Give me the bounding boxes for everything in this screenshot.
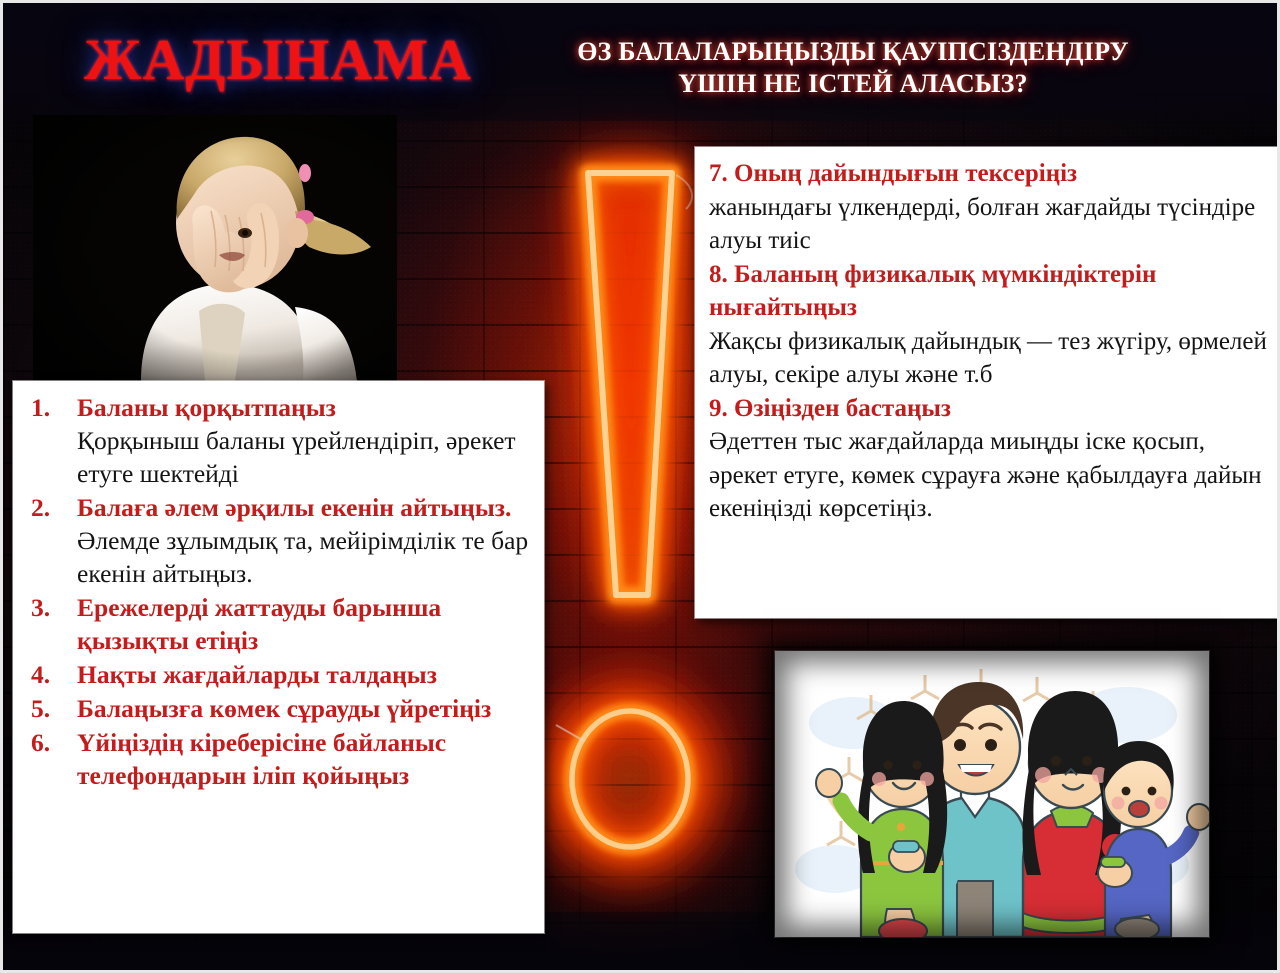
left-recommendations-panel: Баланы қорқытпаңыз Қорқыныш баланы үрейл… bbox=[13, 381, 544, 933]
list-item-heading: Балаға әлем әрқилы екенін айтыңыз. bbox=[77, 493, 511, 522]
right-item-body: Жақсы физикалық дайындық — тез жүгіру, ө… bbox=[709, 325, 1271, 392]
poster-canvas: ЖАДЫНАМА ӨЗ БАЛАЛАРЫҢЫЗДЫ ҚАУІПСІЗДЕНДІР… bbox=[0, 0, 1280, 973]
right-item-heading: 8. Баланың физикалық мүмкіндіктерін ныға… bbox=[709, 258, 1271, 325]
page-subtitle: ӨЗ БАЛАЛАРЫҢЫЗДЫ ҚАУІПСІЗДЕНДІРУ ҮШІН НЕ… bbox=[483, 36, 1223, 100]
right-item-heading: 9. Өзіңізден бастаңыз bbox=[709, 392, 1271, 426]
left-recommendations-list: Баланы қорқытпаңыз Қорқыныш баланы үрейл… bbox=[23, 391, 536, 792]
cartoon-family-illustration bbox=[775, 651, 1209, 937]
list-item-body: Қорқыныш баланы үрейлендіріп, әрекет ету… bbox=[77, 426, 516, 488]
right-item-body: жанындағы үлкендерді, болған жағдайды тү… bbox=[709, 191, 1271, 258]
list-item-body: Әлемде зұлымдық та, мейірімділік те бар … bbox=[77, 526, 528, 588]
page-subtitle-line-1: ӨЗ БАЛАЛАРЫҢЫЗДЫ ҚАУІПСІЗДЕНДІРУ bbox=[483, 36, 1223, 68]
right-item-heading: 7. Оның дайындығын тексеріңіз bbox=[709, 157, 1271, 191]
right-recommendations-panel: 7. Оның дайындығын тексеріңіз жанындағы … bbox=[695, 147, 1280, 618]
right-list-item: 9. Өзіңізден бастаңыз Әдеттен тыс жағдай… bbox=[709, 392, 1271, 526]
list-item-heading: Нақты жағдайларды талдаңыз bbox=[77, 660, 437, 689]
list-item: Баланы қорқытпаңыз Қорқыныш баланы үрейл… bbox=[23, 391, 536, 490]
list-item-heading: Үйіңіздің кіреберісіне байланыс телефонд… bbox=[77, 728, 446, 790]
list-item-heading: Ережелерді жаттауды барынша қызықты етің… bbox=[77, 593, 441, 655]
page-subtitle-line-2: ҮШІН НЕ ІСТЕЙ АЛАСЫЗ? bbox=[483, 68, 1223, 100]
scared-child-photo bbox=[33, 115, 397, 381]
list-item: Нақты жағдайларды талдаңыз bbox=[23, 658, 536, 691]
family-artwork bbox=[775, 651, 1209, 937]
list-item: Балаңызға көмек сұрауды үйретіңіз bbox=[23, 692, 536, 725]
list-item: Үйіңіздің кіреберісіне байланыс телефонд… bbox=[23, 726, 536, 792]
page-title: ЖАДЫНАМА bbox=[63, 29, 493, 91]
right-list-item: 7. Оның дайындығын тексеріңіз жанындағы … bbox=[709, 157, 1271, 258]
list-item: Балаға әлем әрқилы екенін айтыңыз. Әлемд… bbox=[23, 491, 536, 590]
right-item-body: Әдеттен тыс жағдайларда миыңды іске қосы… bbox=[709, 425, 1271, 526]
list-item: Ережелерді жаттауды барынша қызықты етің… bbox=[23, 591, 536, 657]
list-item-heading: Баланы қорқытпаңыз bbox=[77, 393, 336, 422]
list-item-heading: Балаңызға көмек сұрауды үйретіңіз bbox=[77, 694, 491, 723]
right-list-item: 8. Баланың физикалық мүмкіндіктерін ныға… bbox=[709, 258, 1271, 392]
